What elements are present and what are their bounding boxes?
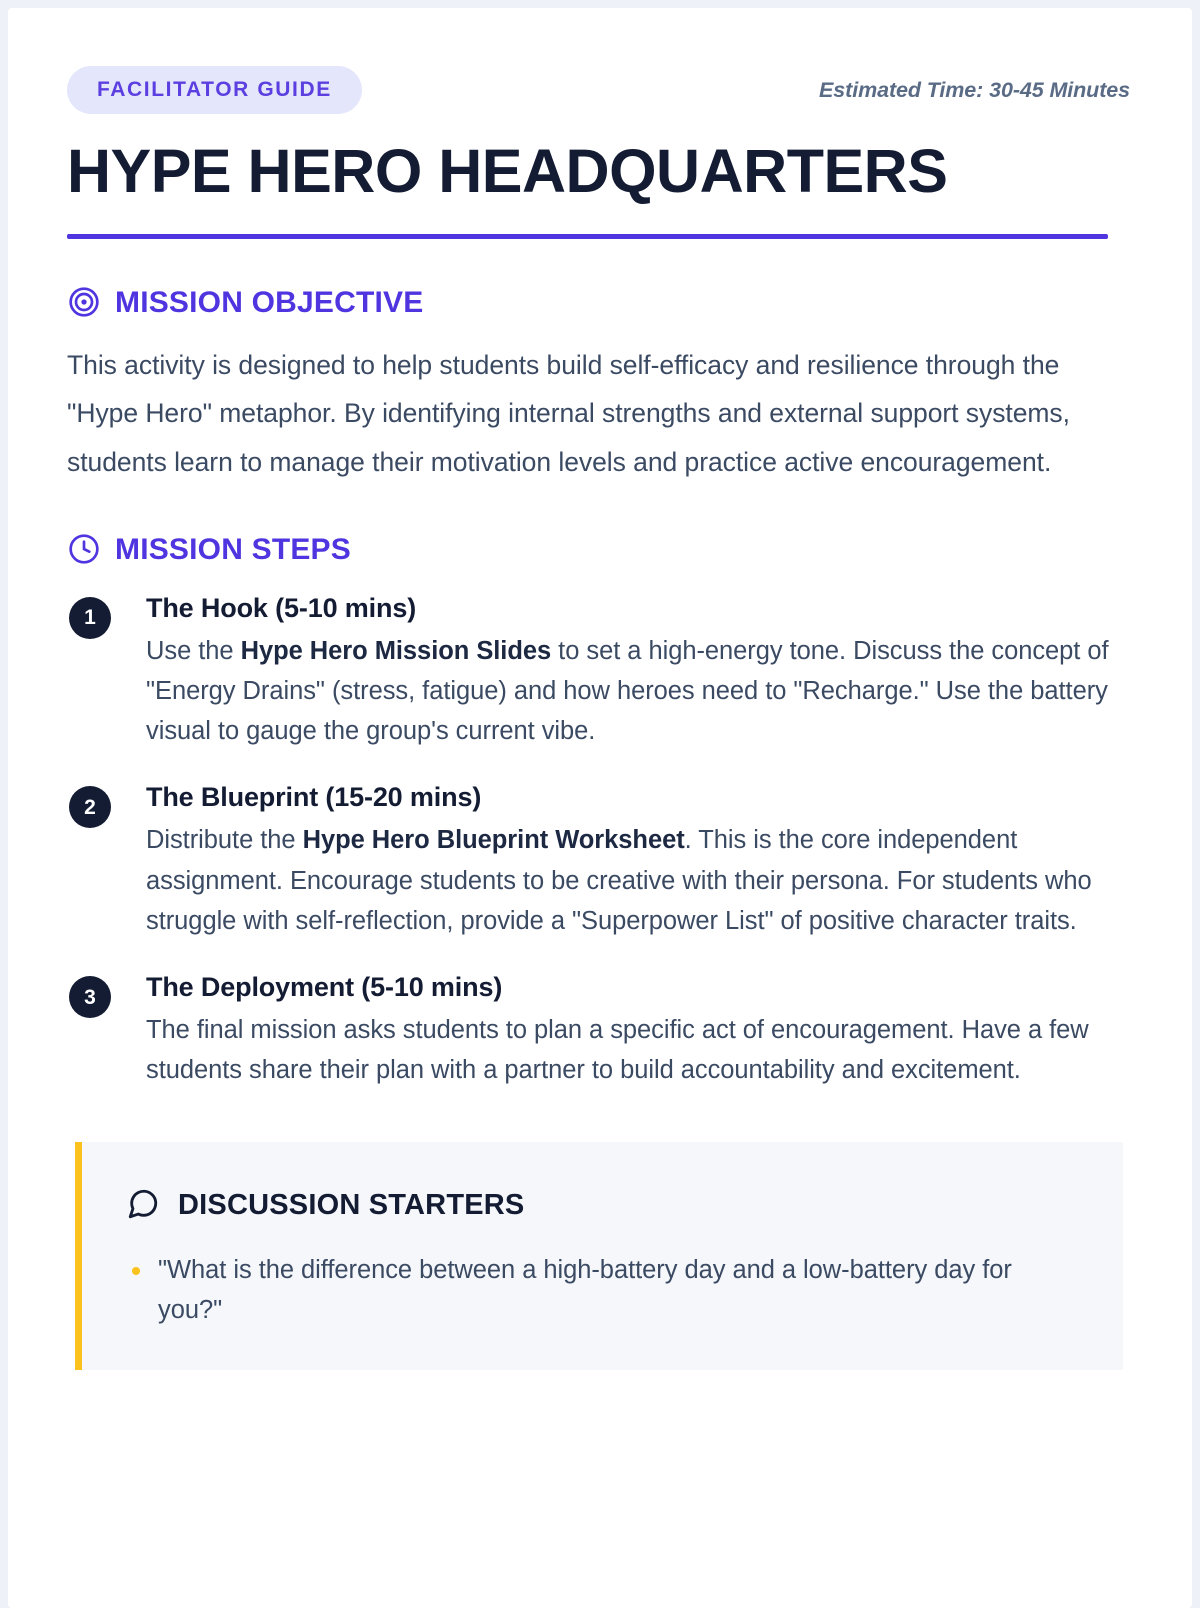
document-body: FACILITATOR GUIDE Estimated Time: 30-45 … — [8, 8, 1192, 1370]
page-title: HYPE HERO HEADQUARTERS — [67, 140, 1132, 202]
discussion-heading-row: DISCUSSION STARTERS — [126, 1187, 1081, 1221]
step-title: The Deployment (5-10 mins) — [146, 971, 1132, 1005]
step-body: Distribute the Hype Hero Blueprint Works… — [146, 820, 1132, 941]
step-body-emphasis: Hype Hero Mission Slides — [241, 637, 552, 665]
title-divider — [67, 234, 1108, 239]
mission-step: 1 The Hook (5-10 mins) Use the Hype Hero… — [67, 592, 1132, 752]
mission-step: 3 The Deployment (5-10 mins) The final m… — [67, 971, 1132, 1090]
step-body-emphasis: Hype Hero Blueprint Worksheet — [303, 826, 685, 854]
mission-objective-heading-row: MISSION OBJECTIVE — [67, 285, 1132, 319]
mission-steps-section: MISSION STEPS 1 The Hook (5-10 mins) Use… — [67, 532, 1132, 1091]
step-body-lead: Distribute the — [146, 826, 303, 854]
document-header: FACILITATOR GUIDE Estimated Time: 30-45 … — [67, 66, 1132, 114]
step-number-badge: 3 — [69, 976, 111, 1018]
discussion-item: "What is the difference between a high-b… — [126, 1251, 1056, 1330]
mission-steps-list: 1 The Hook (5-10 mins) Use the Hype Hero… — [67, 592, 1132, 1091]
step-title: The Blueprint (15-20 mins) — [146, 781, 1132, 815]
step-number-badge: 2 — [69, 786, 111, 828]
mission-step: 2 The Blueprint (15-20 mins) Distribute … — [67, 781, 1132, 941]
step-body: The final mission asks students to plan … — [146, 1010, 1132, 1091]
clock-icon — [67, 532, 101, 566]
discussion-heading: DISCUSSION STARTERS — [178, 1189, 524, 1220]
target-icon — [67, 285, 101, 319]
speech-bubble-icon — [126, 1187, 160, 1221]
facilitator-guide-badge: FACILITATOR GUIDE — [67, 66, 362, 114]
step-body-lead: Use the — [146, 637, 241, 665]
discussion-starters-panel: DISCUSSION STARTERS "What is the differe… — [75, 1142, 1123, 1370]
document-card: FACILITATOR GUIDE Estimated Time: 30-45 … — [8, 8, 1192, 1608]
step-body-lead: The final mission asks students to plan … — [146, 1016, 1089, 1084]
mission-objective-section: MISSION OBJECTIVE This activity is desig… — [67, 285, 1132, 486]
step-title: The Hook (5-10 mins) — [146, 592, 1132, 626]
mission-steps-heading-row: MISSION STEPS — [67, 532, 1132, 566]
discussion-items-list: "What is the difference between a high-b… — [126, 1251, 1081, 1330]
mission-objective-heading: MISSION OBJECTIVE — [115, 286, 423, 318]
step-number-badge: 1 — [69, 597, 111, 639]
mission-objective-paragraph: This activity is designed to help studen… — [67, 341, 1112, 486]
estimated-time-label: Estimated Time: 30-45 Minutes — [819, 78, 1132, 103]
step-body: Use the Hype Hero Mission Slides to set … — [146, 631, 1132, 752]
mission-steps-heading: MISSION STEPS — [115, 533, 351, 565]
